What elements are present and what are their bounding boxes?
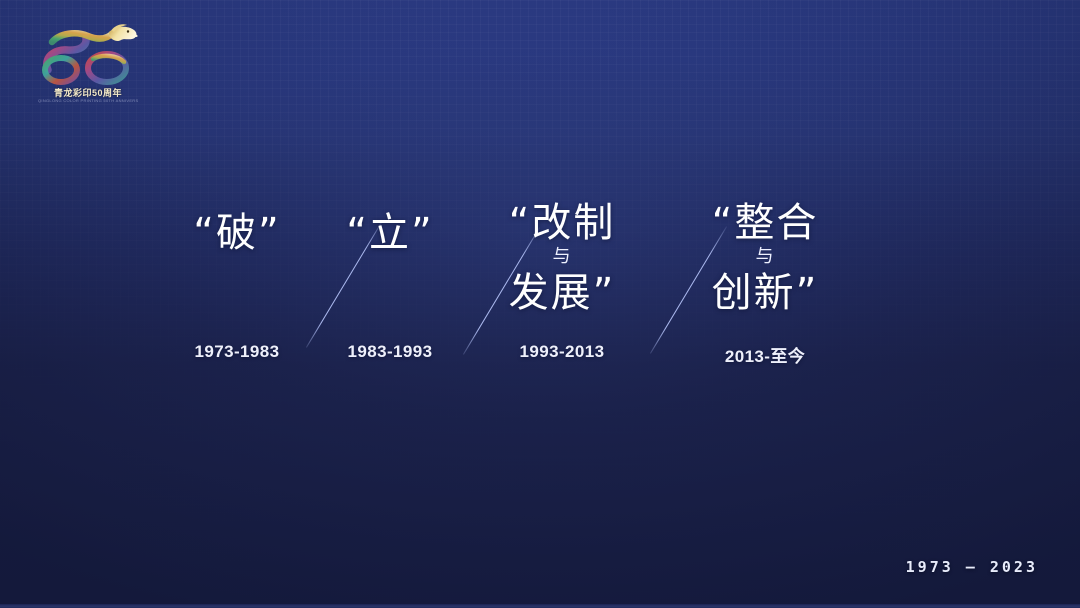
phase-3-title-line-2: 发展” [477,267,647,319]
phase-4-title-line-1: “整合 [675,197,855,249]
phase-2-title: “立” [305,207,475,259]
footer-year-range: 1973 — 2023 [906,558,1038,576]
logo-subcaption: QINGLONG COLOR PRINTING 50TH ANNIVERSARY [38,98,138,103]
slide-canvas: 青龙彩印50周年 QINGLONG COLOR PRINTING 50TH AN… [0,0,1080,608]
anniversary-logo: 青龙彩印50周年 QINGLONG COLOR PRINTING 50TH AN… [34,18,142,110]
timeline-phase-4: “整合 与 创新” 2013-至今 [675,185,855,375]
bottom-accent-band [0,604,1080,608]
phase-3-conjunction: 与 [477,247,647,267]
timeline-phase-2: “立” 1983-1993 [305,185,475,375]
phase-1-years: 1973-1983 [152,342,322,362]
timeline-phase-1: “破” 1973-1983 [152,185,322,375]
phase-3-years: 1993-2013 [477,342,647,362]
phase-4-years: 2013-至今 [675,342,855,367]
phase-4-conjunction: 与 [675,247,855,267]
dragon-50-icon [34,18,142,88]
timeline-phase-3: “改制 与 发展” 1993-2013 [477,185,647,375]
phase-3-title-line-1: “改制 [477,197,647,249]
timeline: “破” 1973-1983 “立” 1983-1993 “改制 与 发展” 19… [0,185,1080,375]
phase-4-title-line-2: 创新” [675,267,855,319]
phase-2-years: 1983-1993 [305,342,475,362]
phase-1-title: “破” [152,207,322,259]
